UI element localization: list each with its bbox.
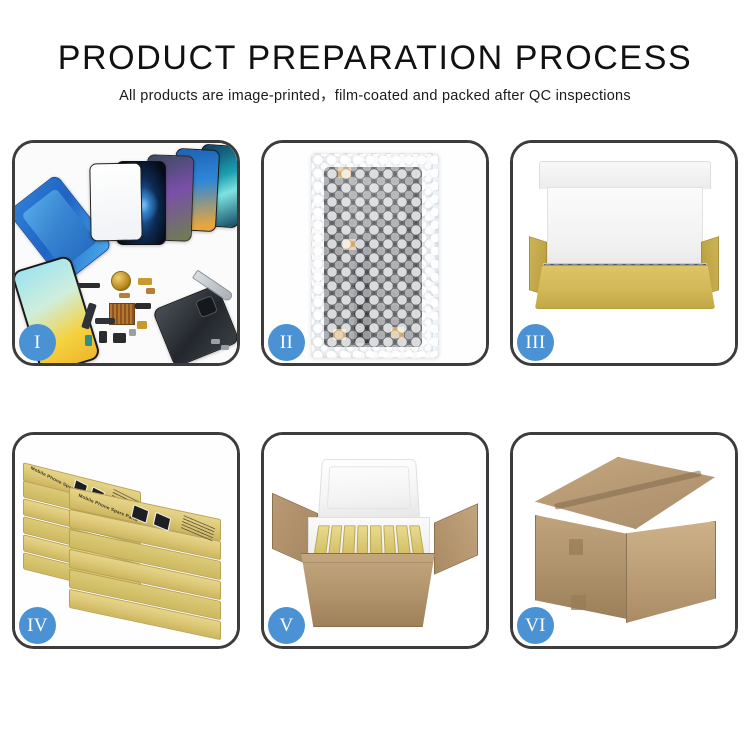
- step-panel-3[interactable]: III: [510, 140, 738, 366]
- carton-tape-patch: [571, 595, 586, 610]
- tape-piece: [333, 329, 346, 340]
- box-foam-liner: [547, 187, 703, 271]
- small-part: [135, 303, 151, 309]
- step-panel-5[interactable]: V: [261, 432, 489, 649]
- packed-box: [342, 525, 355, 556]
- small-part: [119, 293, 130, 298]
- step-panel-4[interactable]: Mobile Phone Spare Parts: [12, 432, 240, 649]
- small-part: [129, 329, 136, 336]
- step-badge-5: V: [268, 607, 305, 644]
- small-part: [146, 288, 155, 294]
- product-preparation-poster: PRODUCT PREPARATION PROCESS All products…: [0, 0, 750, 750]
- packed-box: [396, 525, 411, 556]
- step-panel-1[interactable]: I: [12, 140, 240, 366]
- carton-front-panel: [292, 553, 444, 627]
- step-panel-2[interactable]: II: [261, 140, 489, 366]
- packed-box: [328, 525, 343, 556]
- step-badge-4: IV: [19, 607, 56, 644]
- lcd-assembly-inside: [324, 167, 422, 347]
- tape-piece: [338, 167, 351, 178]
- small-part: [99, 331, 107, 343]
- lcd-flex-cable: [354, 239, 370, 343]
- page-title: PRODUCT PREPARATION PROCESS: [0, 38, 750, 78]
- small-part: [78, 283, 100, 288]
- packed-yellow-boxes: [313, 525, 424, 556]
- small-part: [85, 335, 92, 346]
- step-badge-1: I: [19, 324, 56, 361]
- small-part: [138, 278, 152, 285]
- screw-part: [211, 339, 220, 344]
- box-lid-back: [539, 161, 711, 189]
- styrofoam-lid: [318, 459, 420, 519]
- screw-part: [221, 345, 229, 350]
- packed-box: [370, 525, 382, 556]
- packed-box: [383, 525, 396, 556]
- carton-tape-patch: [569, 539, 583, 555]
- header: PRODUCT PREPARATION PROCESS All products…: [0, 38, 750, 106]
- packed-box: [356, 525, 368, 556]
- box-front-panel: [535, 265, 715, 309]
- small-part: [113, 333, 126, 343]
- flex-cable-part: [95, 318, 115, 324]
- screen-protector-glass: [89, 163, 142, 242]
- tape-piece: [391, 327, 404, 338]
- process-step-grid: I II: [12, 140, 738, 675]
- step-badge-3: III: [517, 324, 554, 361]
- speaker-coil-part: [111, 271, 131, 291]
- tape-piece: [343, 239, 356, 250]
- step-badge-6: VI: [517, 607, 554, 644]
- small-part: [137, 321, 147, 329]
- page-subtitle: All products are image-printed，film-coat…: [0, 86, 750, 106]
- step-panel-6[interactable]: VI: [510, 432, 738, 649]
- step-badge-2: II: [268, 324, 305, 361]
